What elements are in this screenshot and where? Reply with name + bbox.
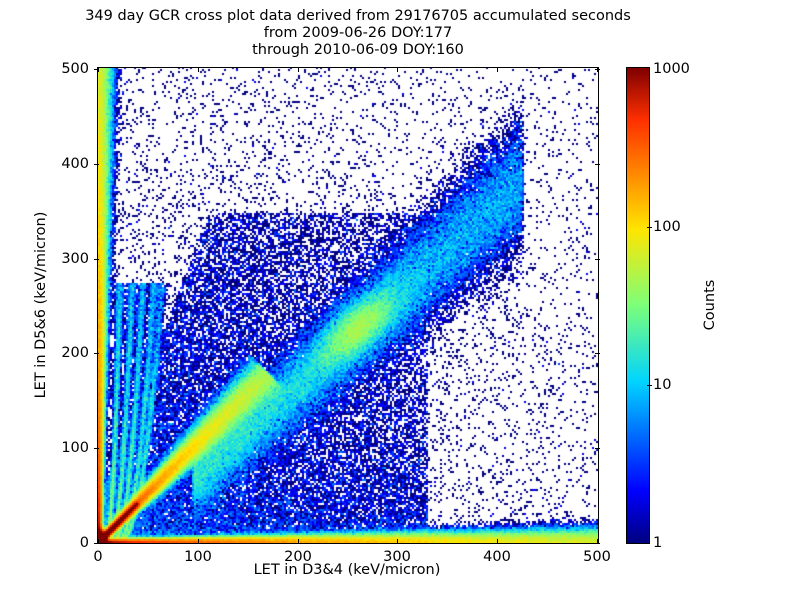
y-tick-mark (94, 164, 99, 165)
y-tick-label: 300 (45, 251, 89, 267)
colorbar-tick-mark (647, 385, 652, 386)
x-tick-mark-top (298, 67, 299, 72)
y-tick-label: 400 (45, 156, 89, 172)
y-tick-label: 200 (45, 345, 89, 361)
y-tick-mark (94, 448, 99, 449)
colorbar-tick-mark (647, 227, 652, 228)
colorbar-label: Counts (702, 67, 718, 542)
colorbar (626, 67, 650, 544)
y-tick-mark-right (595, 259, 600, 260)
x-axis-label: LET in D3&4 (keV/micron) (97, 562, 597, 578)
x-tick-mark-top (397, 67, 398, 72)
y-tick-label: 500 (45, 61, 89, 77)
x-tick-mark-top (198, 67, 199, 72)
cross-plot-heatmap (98, 68, 598, 543)
y-axis-label-wrapper: LET in D5&6 (keV/micron) (32, 67, 50, 542)
x-tick-mark (397, 539, 398, 544)
y-tick-mark-right (595, 543, 600, 544)
y-tick-mark (94, 353, 99, 354)
chart-title-line-1: 349 day GCR cross plot data derived from… (0, 8, 716, 25)
y-tick-mark (94, 543, 99, 544)
y-tick-mark-right (595, 69, 600, 70)
x-tick-mark (298, 539, 299, 544)
x-tick-mark-top (497, 67, 498, 72)
colorbar-gradient (627, 68, 649, 543)
y-axis-label: LET in D5&6 (keV/micron) (33, 67, 49, 542)
colorbar-tick-label: 10 (653, 377, 671, 393)
x-tick-mark (198, 539, 199, 544)
y-tick-mark-right (595, 353, 600, 354)
chart-title-line-3: through 2010-06-09 DOY:160 (0, 42, 716, 59)
plot-area (97, 67, 599, 544)
y-tick-mark-right (595, 448, 600, 449)
colorbar-tick-label: 100 (653, 219, 681, 235)
colorbar-tick-label: 1 (653, 535, 662, 551)
colorbar-tick-label: 1000 (653, 61, 690, 77)
colorbar-label-wrapper: Counts (700, 67, 720, 542)
chart-title-line-2: from 2009-06-26 DOY:177 (0, 25, 716, 42)
y-tick-label: 0 (45, 535, 89, 551)
y-tick-mark-right (595, 164, 600, 165)
y-tick-mark (94, 259, 99, 260)
y-tick-label: 100 (45, 440, 89, 456)
x-tick-mark (497, 539, 498, 544)
chart-title: 349 day GCR cross plot data derived from… (0, 8, 716, 59)
y-tick-mark (94, 69, 99, 70)
